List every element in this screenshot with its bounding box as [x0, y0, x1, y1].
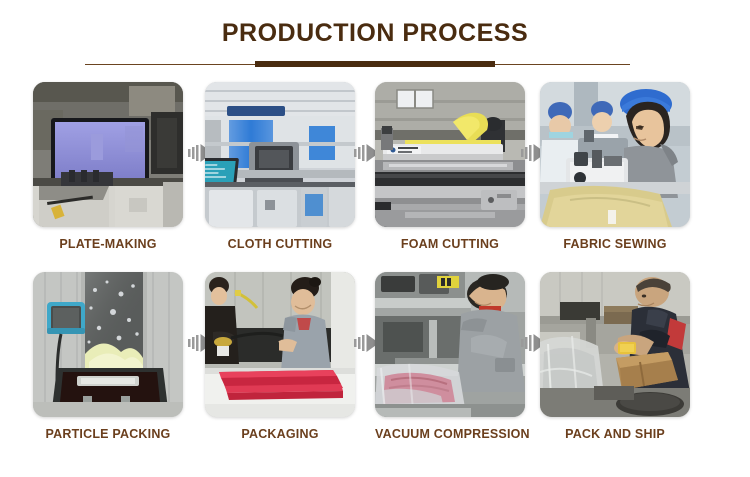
step-photo-card[interactable]: [205, 272, 355, 417]
divider-thick-segment: [255, 61, 495, 67]
step-label: PLATE-MAKING: [33, 237, 183, 251]
photo-foam-cutting-machine: [375, 82, 525, 227]
step-label: FOAM CUTTING: [375, 237, 525, 251]
step-photo-card[interactable]: [375, 272, 525, 417]
step-photo-card[interactable]: [375, 82, 525, 227]
step-label: VACUUM COMPRESSION: [375, 427, 525, 441]
step-label: PARTICLE PACKING: [33, 427, 183, 441]
process-row-1: PLATE-MAKING: [0, 82, 750, 272]
step-photo-card[interactable]: [540, 272, 690, 417]
process-step-fabric-sewing[interactable]: FABRIC SEWING: [540, 82, 690, 251]
step-photo-card[interactable]: [33, 82, 183, 227]
photo-plate-making-workstation: [33, 82, 183, 227]
photo-cloth-cutting-machines: [205, 82, 355, 227]
process-step-cloth-cutting[interactable]: CLOTH CUTTING: [205, 82, 355, 251]
photo-packaging-red-mats: [205, 272, 355, 417]
page-title: PRODUCTION PROCESS: [0, 20, 750, 48]
title-divider: [0, 58, 750, 72]
process-row-2: PARTICLE PACKING: [0, 272, 750, 462]
photo-pack-and-ship-carton: [540, 272, 690, 417]
page-header: PRODUCTION PROCESS: [0, 0, 750, 72]
step-label: PACK AND SHIP: [540, 427, 690, 441]
photo-vacuum-compression-worker: [375, 272, 525, 417]
process-grid: PLATE-MAKING: [0, 82, 750, 462]
step-photo-card[interactable]: [33, 272, 183, 417]
process-step-pack-and-ship[interactable]: PACK AND SHIP: [540, 272, 690, 441]
step-label: CLOTH CUTTING: [205, 237, 355, 251]
step-label: FABRIC SEWING: [540, 237, 690, 251]
step-photo-card[interactable]: [205, 82, 355, 227]
process-step-plate-making[interactable]: PLATE-MAKING: [33, 82, 183, 251]
photo-particle-packing-chamber: [33, 272, 183, 417]
process-step-particle-packing[interactable]: PARTICLE PACKING: [33, 272, 183, 441]
process-step-vacuum-compression[interactable]: VACUUM COMPRESSION: [375, 272, 525, 441]
process-step-packaging[interactable]: PACKAGING: [205, 272, 355, 441]
step-label: PACKAGING: [205, 427, 355, 441]
photo-fabric-sewing-workers: [540, 82, 690, 227]
step-photo-card[interactable]: [540, 82, 690, 227]
process-step-foam-cutting[interactable]: FOAM CUTTING: [375, 82, 525, 251]
